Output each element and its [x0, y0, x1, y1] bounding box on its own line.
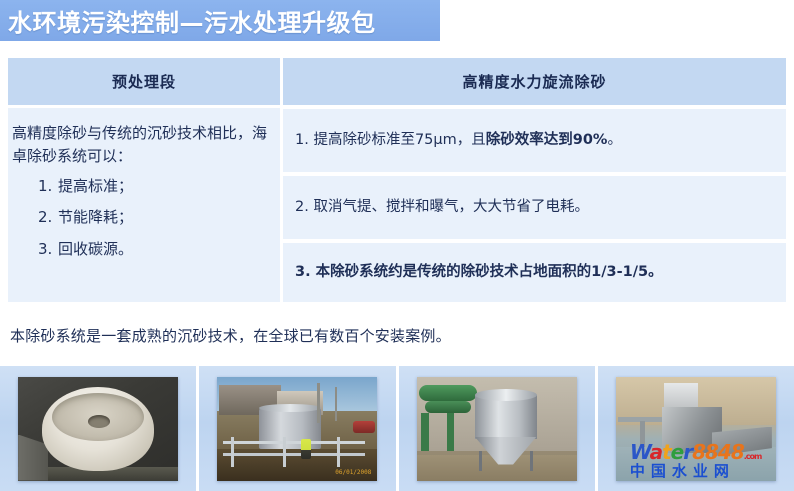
grit-tank-lid: [259, 404, 321, 412]
photo-hydrocyclone-vessel: [18, 377, 178, 481]
title-banner: 水环境污染控制—污水处理升级包: [0, 0, 440, 41]
green-pipe: [419, 385, 477, 401]
site-worker: [301, 439, 311, 459]
pretreatment-lead-text: 高精度除砂与传统的沉砂技术相比，海卓除砂系统可以：: [12, 122, 274, 169]
railing-post: [231, 437, 234, 467]
row-text-emphasis: 3. 本除砂系统约是传统的除砂技术占地面积的1/3-1/5。: [295, 261, 663, 285]
row-text-emphasis: 除砂效率达到90%: [486, 129, 608, 153]
table-row: 1. 提高除砂标准至75μm，且除砂效率达到90%。: [283, 108, 786, 172]
row-text-suffix: 。: [607, 129, 622, 153]
safety-railing: [223, 453, 365, 456]
conical-tank-lid: [475, 389, 537, 401]
cell-pretreatment-body: 高精度除砂与传统的沉砂技术相比，海卓除砂系统可以： 1. 提高标准； 2. 节能…: [8, 108, 280, 302]
column-header-pretreatment: 预处理段: [8, 58, 280, 105]
photo-cell-3: [399, 366, 598, 491]
photo-cell-4: Water8848.com 中国水业网: [598, 366, 794, 491]
vessel-outlet: [88, 415, 110, 428]
tank-support-leg: [479, 451, 482, 471]
list-item-number: 1.: [12, 175, 58, 198]
list-item: 1. 提高标准；: [12, 175, 274, 198]
photo-cell-1: [0, 366, 199, 491]
support-mast: [335, 387, 337, 421]
railing-post: [337, 437, 340, 467]
column-header-hydrocyclone: 高精度水力旋流除砂: [283, 58, 786, 105]
table-column-left: 预处理段 高精度除砂与传统的沉砂技术相比，海卓除砂系统可以： 1. 提高标准； …: [8, 58, 280, 302]
photo-indoor-conical-tanks: [417, 377, 577, 481]
list-item-label: 提高标准；: [58, 175, 274, 198]
list-item: 2. 节能降耗；: [12, 206, 274, 229]
green-pipe-riser: [447, 413, 454, 451]
photo-indoor-classifier: Water8848.com 中国水业网: [616, 377, 776, 481]
photo-cell-2: 06/01/2008: [199, 366, 398, 491]
pretreatment-benefit-list: 1. 提高标准； 2. 节能降耗； 3. 回收碳源。: [12, 175, 274, 261]
page-title: 水环境污染控制—污水处理升级包: [0, 3, 376, 38]
green-pipe: [425, 401, 471, 413]
photo-outdoor-installation: 06/01/2008: [217, 377, 377, 481]
green-pipe-riser: [421, 413, 429, 451]
row-text-prefix: 2. 取消气提、搅拌和曝气，大大节省了电耗。: [295, 196, 589, 220]
comparison-table: 预处理段 高精度除砂与传统的沉砂技术相比，海卓除砂系统可以： 1. 提高标准； …: [8, 58, 786, 302]
footer-note: 本除砂系统是一套成熟的沉砂技术，在全球已有数百个安装案例。: [10, 325, 451, 346]
support-mast: [317, 383, 320, 423]
row-text-prefix: 1. 提高除砂标准至75μm，且: [295, 129, 486, 153]
list-item-label: 回收碳源。: [58, 238, 274, 261]
photo-strip: 06/01/2008 Water8848.com: [0, 366, 794, 491]
parked-vehicle: [353, 421, 375, 433]
list-item-number: 3.: [12, 238, 58, 261]
table-row: 2. 取消气提、搅拌和曝气，大大节省了电耗。: [283, 175, 786, 239]
photo-timestamp: 06/01/2008: [335, 469, 371, 476]
list-item-label: 节能降耗；: [58, 206, 274, 229]
list-item-number: 2.: [12, 206, 58, 229]
tank-support-leg: [530, 451, 533, 471]
safety-railing: [223, 441, 365, 444]
conical-tank-body: [475, 395, 537, 439]
table-column-right: 高精度水力旋流除砂 1. 提高除砂标准至75μm，且除砂效率达到90%。 2. …: [283, 58, 786, 302]
list-item: 3. 回收碳源。: [12, 238, 274, 261]
table-row: 3. 本除砂系统约是传统的除砂技术占地面积的1/3-1/5。: [283, 242, 786, 302]
railing-post: [283, 437, 286, 467]
